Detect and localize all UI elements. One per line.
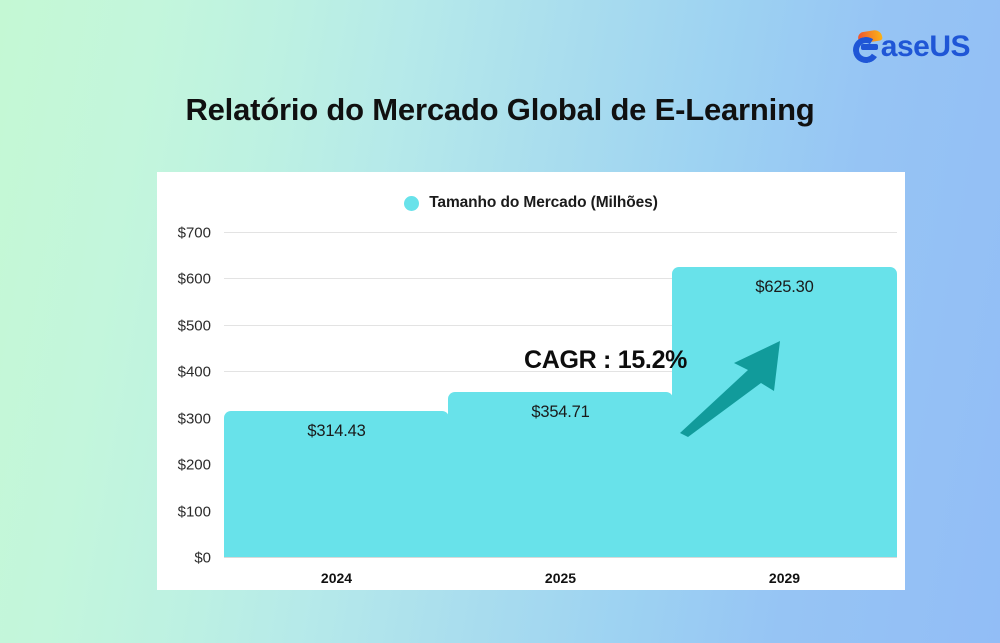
ytick-label-600: $600: [178, 271, 211, 288]
logo-bar-icon: [861, 44, 878, 50]
legend-color-swatch-icon: [404, 196, 419, 211]
xtick-label-2025: 2025: [448, 570, 673, 586]
ytick-label-300: $300: [178, 410, 211, 427]
bar-slot-2025: $354.71 2025: [448, 232, 673, 557]
bar-value-2024: $314.43: [224, 422, 449, 441]
ytick-label-400: $400: [178, 364, 211, 381]
ytick-label-200: $200: [178, 457, 211, 474]
chart-card: Tamanho do Mercado (Milhões) $700 $600 $…: [157, 172, 905, 590]
bar-value-2025: $354.71: [448, 403, 673, 422]
ytick-label-100: $100: [178, 503, 211, 520]
plot-area: $700 $600 $500 $400 $300 $200 $100 $0: [224, 232, 897, 557]
gridline-0: $0: [224, 557, 897, 558]
xtick-label-2024: 2024: [224, 570, 449, 586]
logo-wordmark: aseUS: [881, 32, 970, 62]
poster-canvas: aseUS Relatório do Mercado Global de E-L…: [0, 0, 1000, 643]
chart-legend: Tamanho do Mercado (Milhões): [157, 194, 905, 212]
page-title: Relatório do Mercado Global de E-Learnin…: [0, 92, 1000, 128]
ytick-label-500: $500: [178, 317, 211, 334]
bar-value-2029: $625.30: [672, 278, 897, 297]
growth-arrow-icon: [676, 337, 801, 437]
bar-slot-2024: $314.43 2024: [224, 232, 449, 557]
xtick-label-2029: 2029: [672, 570, 897, 586]
ytick-label-700: $700: [178, 225, 211, 242]
cagr-annotation-label: CAGR : 15.2%: [524, 346, 687, 375]
easeus-logo: aseUS: [853, 28, 970, 66]
bar-2024[interactable]: $314.43: [224, 411, 449, 557]
bar-2025[interactable]: $354.71: [448, 392, 673, 557]
easeus-logo-mark-icon: [853, 31, 883, 63]
legend-label: Tamanho do Mercado (Milhões): [429, 194, 658, 212]
ytick-label-0: $0: [194, 550, 211, 567]
